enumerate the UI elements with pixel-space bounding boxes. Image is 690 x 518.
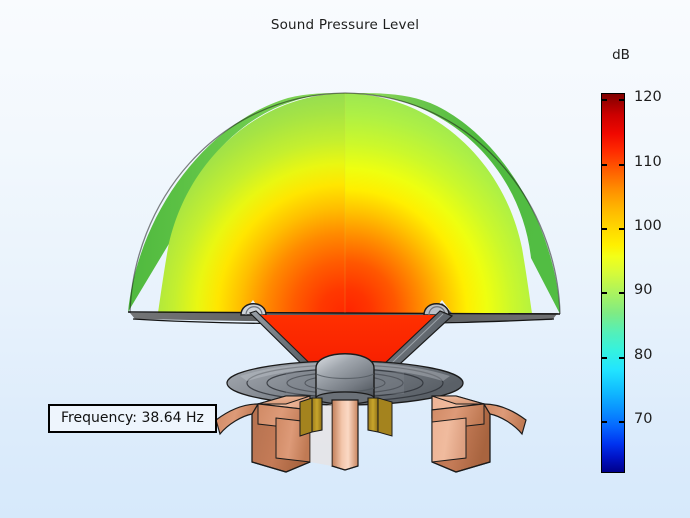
tick-mark-inner (601, 357, 607, 359)
tick-mark-outer (619, 99, 625, 101)
acoustic-pressure-dome (128, 93, 560, 324)
magnet-assembly (216, 396, 526, 472)
tick-mark-outer (619, 357, 625, 359)
plot-canvas: Sound Pressure Level dB 120 110 100 90 8… (0, 0, 690, 518)
colorbar-tick-label: 80 (634, 347, 652, 363)
tick-mark-outer (619, 421, 625, 423)
tick-mark-inner (601, 228, 607, 230)
frequency-annotation: Frequency: 38.64 Hz (48, 404, 217, 433)
tick-mark-outer (619, 292, 625, 294)
colorbar-tick-label: 70 (634, 411, 652, 427)
tick-mark-inner (601, 164, 607, 166)
colorbar-unit-label: dB (600, 47, 642, 63)
tick-mark-outer (619, 228, 625, 230)
tick-mark-inner (601, 292, 607, 294)
colorbar-tick-label: 90 (634, 282, 652, 298)
tick-mark-inner (601, 421, 607, 423)
colorbar[interactable] (601, 93, 625, 473)
acoustic-model-render (0, 0, 690, 518)
tick-mark-outer (619, 164, 625, 166)
colorbar-gradient (601, 93, 625, 473)
colorbar-tick-label: 110 (634, 154, 662, 170)
model-svg (0, 0, 690, 518)
colorbar-tick-label: 120 (634, 89, 662, 105)
tick-mark-inner (601, 99, 607, 101)
dust-cap (316, 354, 374, 404)
colorbar-tick-label: 100 (634, 218, 662, 234)
plot-title: Sound Pressure Level (0, 17, 690, 33)
